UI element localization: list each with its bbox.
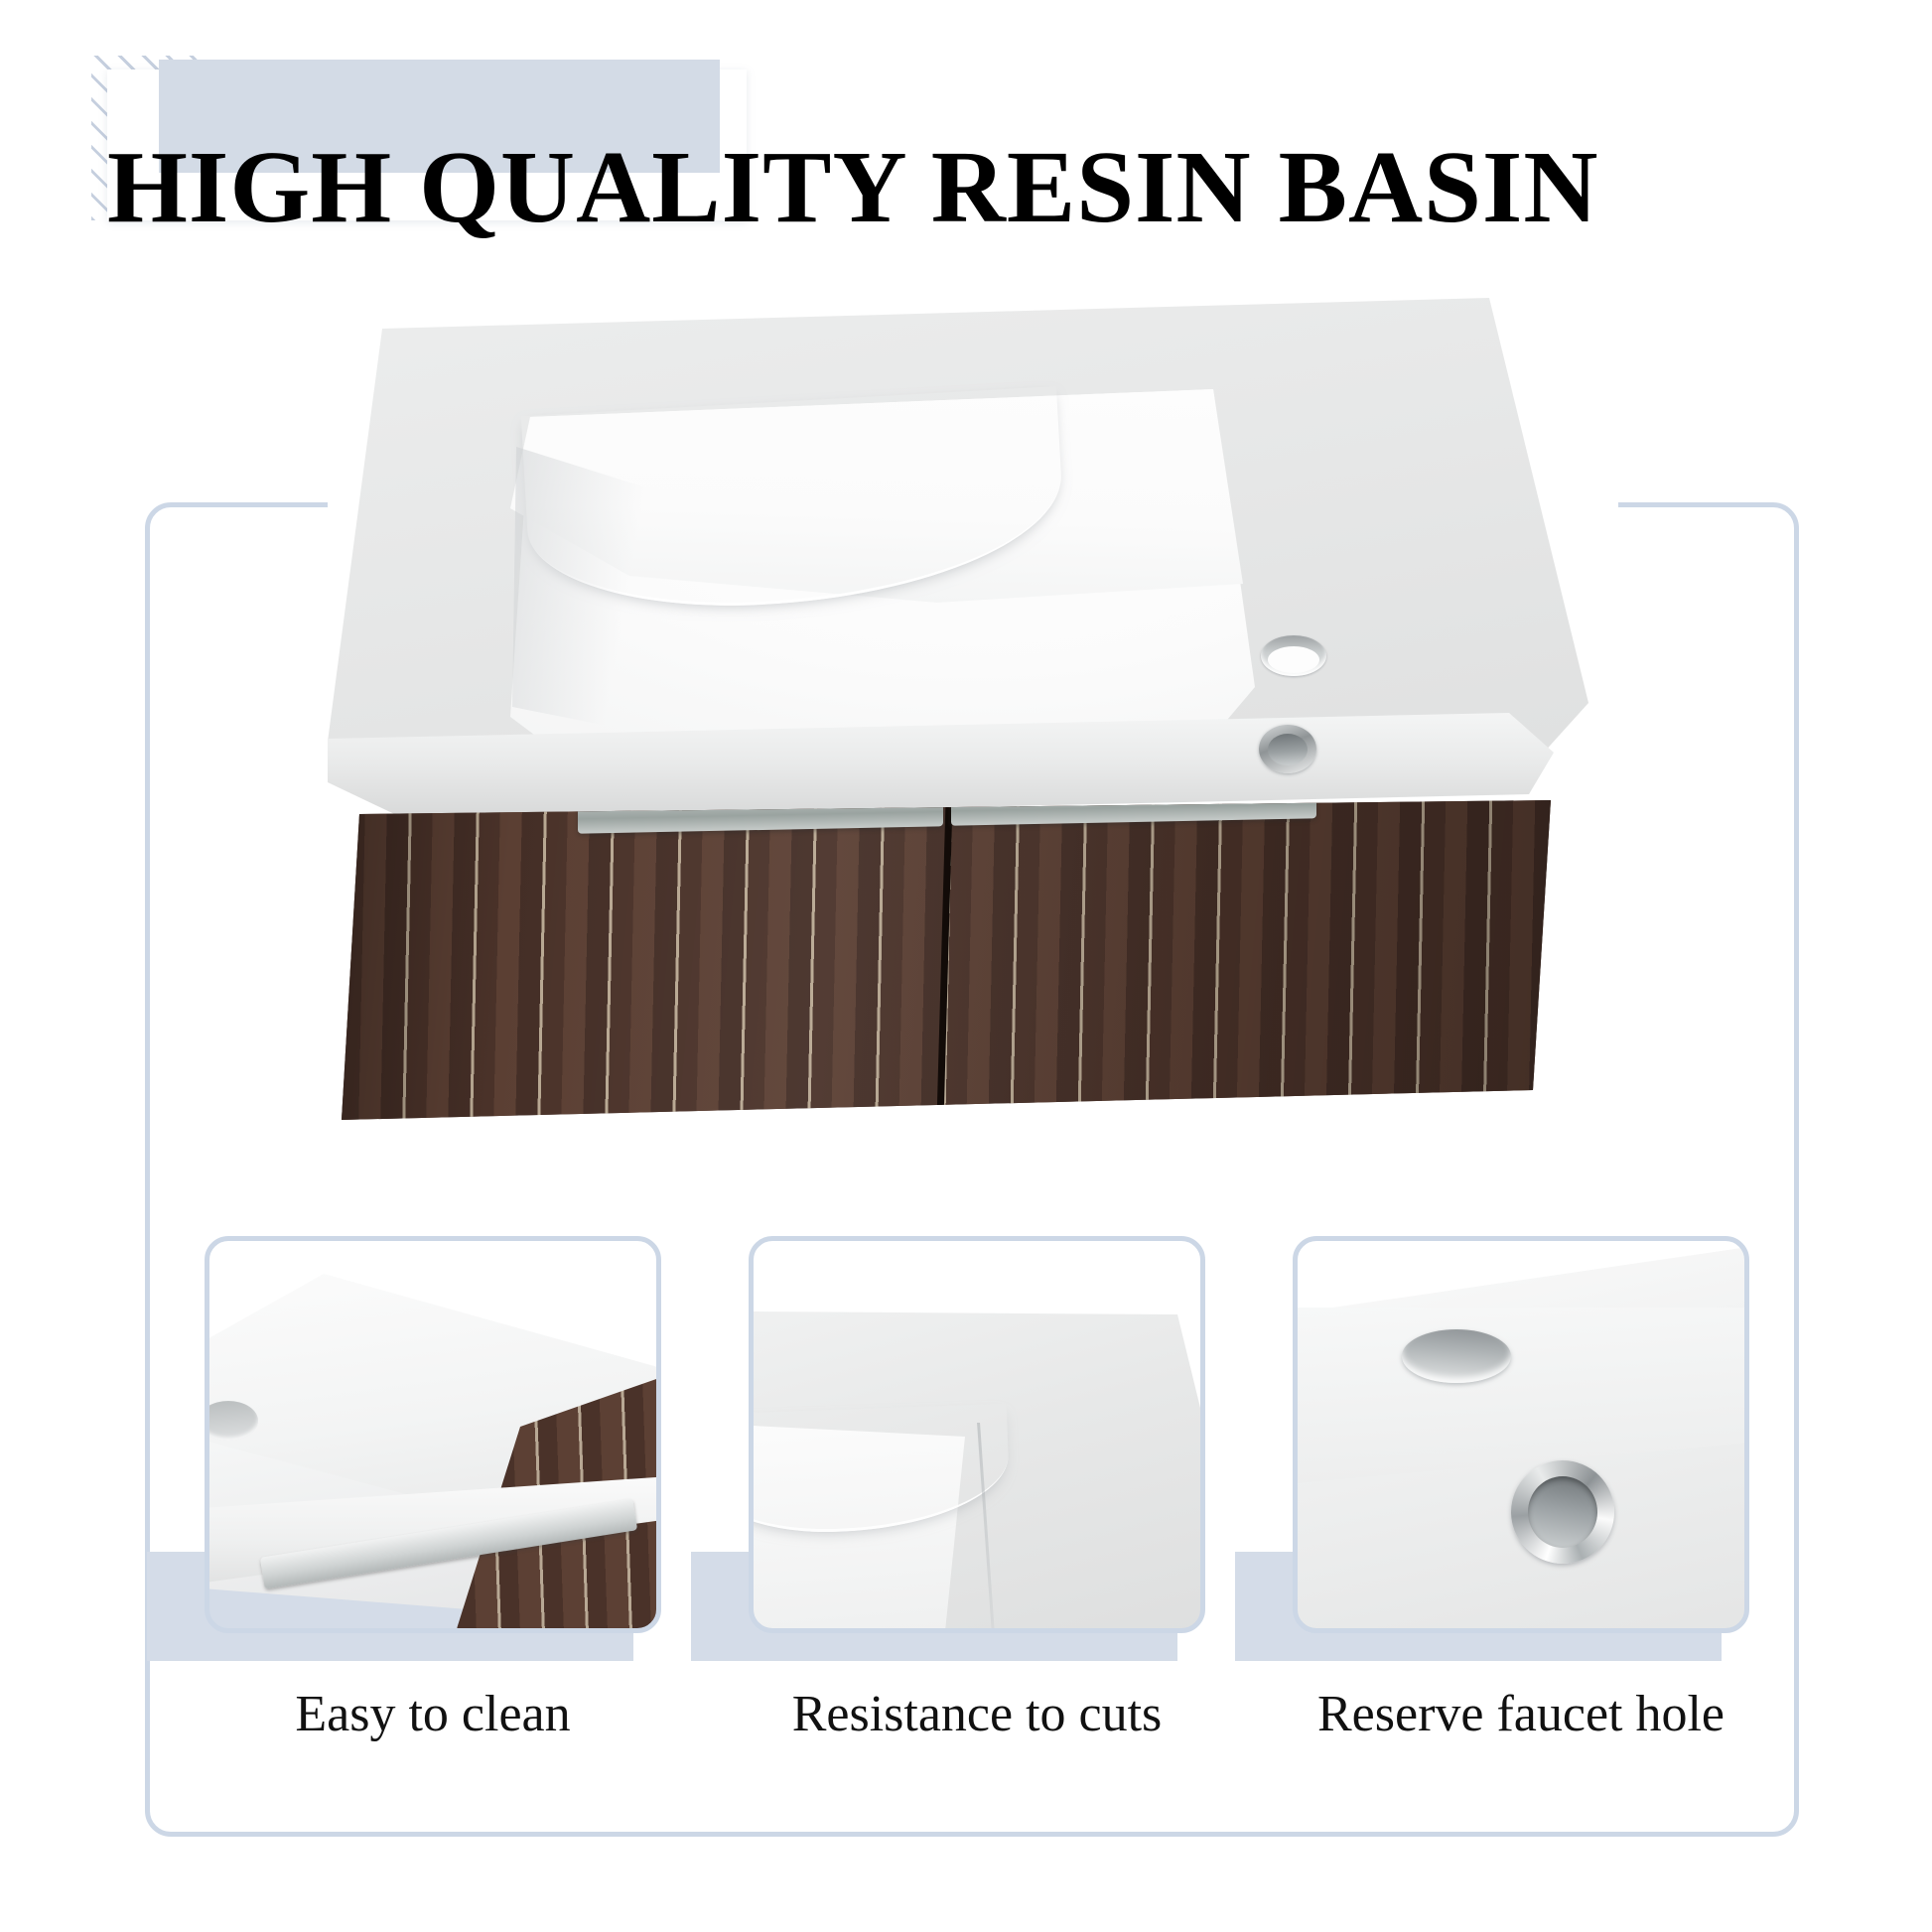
infographic-canvas: HIGH QUALITY RESIN BASIN (0, 0, 1932, 1932)
feature-card-frame (205, 1236, 661, 1633)
feature-caption-3: Reserve faucet hole (1233, 1685, 1809, 1743)
feature-caption-2: Resistance to cuts (689, 1685, 1265, 1743)
feature-thumbnail-row: Easy to clean Resistance to cuts (167, 1236, 1775, 1852)
overflow-hole-icon (1259, 725, 1316, 773)
feature-card-reserve-faucet-hole: Reserve faucet hole (1293, 1236, 1749, 1663)
basin-left-shadow (512, 447, 661, 745)
feature-card-frame (749, 1236, 1205, 1633)
cabinet-body (342, 800, 1551, 1120)
feature-caption-1: Easy to clean (145, 1685, 721, 1743)
faucet-hole-icon (1261, 635, 1326, 676)
feature-card-frame (1293, 1236, 1749, 1633)
hero-product-image (328, 298, 1588, 1122)
feature-card-resistance-to-cuts: Resistance to cuts (749, 1236, 1205, 1663)
feature-card-easy-to-clean: Easy to clean (205, 1236, 661, 1663)
page-title: HIGH QUALITY RESIN BASIN (107, 113, 1874, 262)
